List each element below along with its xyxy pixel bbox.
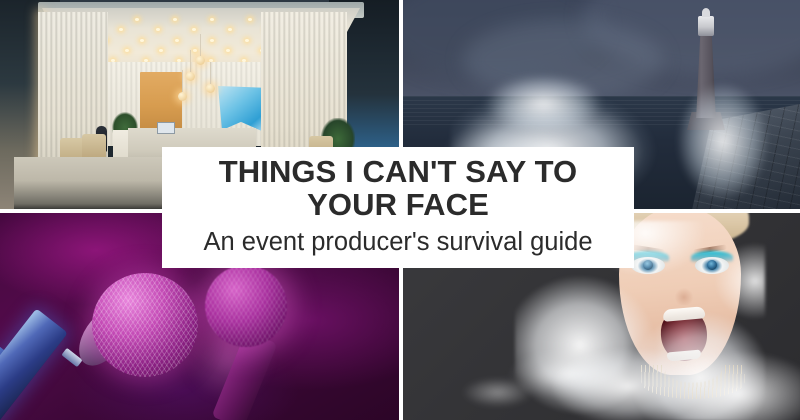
collage-banner: THINGS I CAN'T SAY TO YOUR FACE An event… [0,0,800,420]
ceiling-spotlight [140,39,144,42]
booth-chair [82,134,106,158]
ceiling-spotlight [173,18,177,21]
ceiling-spotlight [245,39,249,42]
ceiling-spotlight [248,18,252,21]
pendant-lamp [178,92,187,101]
ceiling-spotlight [175,39,179,42]
ceiling-spotlight [193,49,197,52]
microphone-front-handle [0,308,68,420]
lighthouse-dome [702,8,710,17]
white-ruffle-collar-lower [553,333,800,420]
ceiling-spotlight [125,49,129,52]
microphone-front-head [92,273,198,377]
lighthouse-lamp-room [698,16,714,36]
pendant-lamp [186,72,195,81]
page-title: THINGS I CAN'T SAY TO YOUR FACE [178,155,618,221]
microphone-back-head [205,265,287,347]
ceiling-spotlight [159,49,163,52]
pendant-lamp [196,56,205,65]
booth-laptop [157,122,175,134]
title-card: THINGS I CAN'T SAY TO YOUR FACE An event… [162,147,634,268]
ceiling-spotlight [210,39,214,42]
pendant-lamp [206,84,215,93]
page-subtitle: An event producer's survival guide [204,228,593,256]
wave-right [671,78,800,209]
